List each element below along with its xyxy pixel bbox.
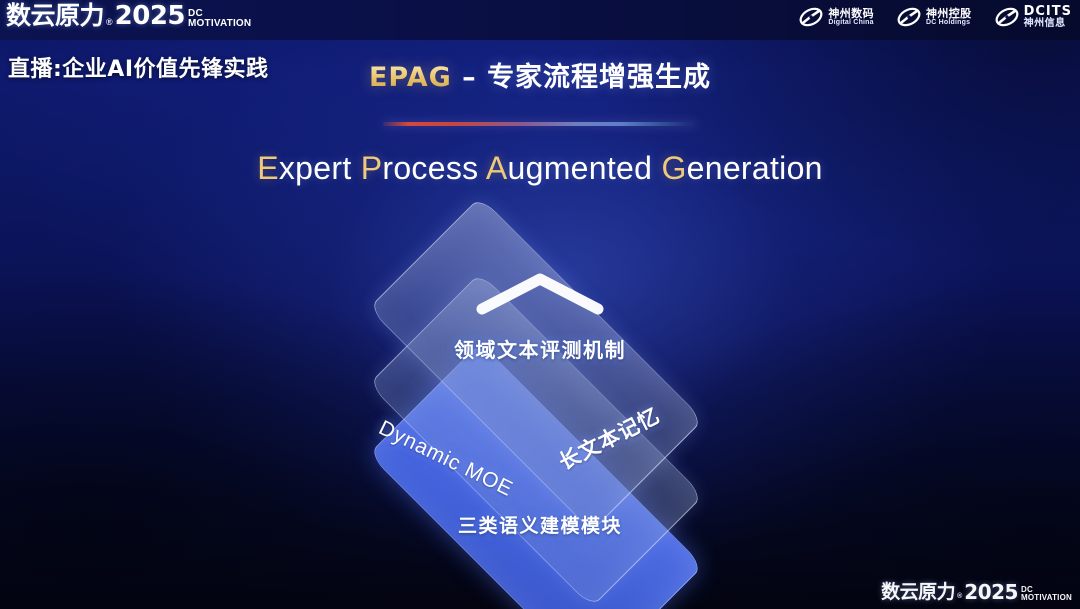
subhead-word-generation: eneration: [687, 150, 823, 186]
stack-layer-top: [378, 206, 694, 522]
subhead-word-process: rocess: [382, 150, 485, 186]
subhead-cap-a: A: [486, 150, 508, 186]
subhead-cap-g: G: [661, 150, 686, 186]
acronym-expansion: Expert Process Augmented Generation: [0, 150, 1080, 187]
headline-separator: –: [452, 62, 487, 93]
watermark-registered: ®: [957, 591, 962, 603]
swirl-icon: [798, 4, 824, 30]
watermark-motivation-label: MOTIVATION: [1021, 594, 1072, 602]
headline-chinese: 专家流程增强生成: [487, 62, 711, 93]
stack-label-top: 领域文本评测机制: [0, 334, 1080, 363]
logo-digital-china: 神州数码 Digital China: [798, 4, 874, 30]
logo-label-cn: 神州数码: [828, 8, 874, 20]
brand-motivation-label: MOTIVATION: [188, 19, 251, 29]
chevron-up-icon: [472, 271, 608, 315]
logo-label-cn: 神州控股: [926, 8, 972, 20]
brand-watermark-bottom-right: 数云原力 ® 2025 DC MOTIVATION: [881, 582, 1072, 603]
subhead-word-augmented: ugmented: [508, 150, 662, 186]
registered-mark: ®: [106, 14, 113, 30]
logo-text-group: 神州控股 DC Holdings: [926, 8, 972, 27]
swirl-icon: [896, 4, 922, 30]
logo-label-en: Digital China: [828, 19, 874, 26]
headline-acronym: EPAG: [369, 62, 452, 93]
logo-label-cn: 神州信息: [1024, 19, 1072, 30]
watermark-name-cn: 数云原力: [881, 582, 955, 603]
logo-dcits: DCITS 神州信息: [994, 4, 1072, 30]
logo-text-group: DCITS 神州信息: [1024, 5, 1072, 29]
partner-logo-group: 神州数码 Digital China 神州控股 DC Holdings: [798, 4, 1072, 30]
headline-divider: [383, 122, 697, 126]
stack-plate-top: [368, 196, 703, 531]
logo-label-en: DCITS: [1024, 5, 1072, 19]
subhead-cap-p: P: [361, 150, 383, 186]
live-stream-title: 直播:企业AI价值先锋实践: [8, 51, 269, 83]
subhead-word-expert: xpert: [279, 150, 361, 186]
logo-text-group: 神州数码 Digital China: [828, 8, 874, 27]
logo-dc-holdings: 神州控股 DC Holdings: [896, 4, 972, 30]
watermark-year: 2025: [964, 582, 1018, 603]
stack-label-bottom: 三类语义建模模块: [0, 511, 1080, 538]
brand-logo-top-left: 数云原力 ® 2025 DC MOTIVATION: [6, 2, 251, 30]
subhead-cap-e: E: [257, 150, 279, 186]
swirl-icon: [994, 4, 1020, 30]
brand-year: 2025: [115, 2, 185, 30]
slide-canvas: 数云原力 ® 2025 DC MOTIVATION 直播:企业AI价值先锋实践 …: [0, 0, 1080, 609]
logo-label-en: DC Holdings: [926, 19, 972, 26]
brand-dc-motivation: DC MOTIVATION: [188, 9, 251, 29]
watermark-dc-motivation: DC MOTIVATION: [1021, 586, 1072, 602]
brand-name-cn: 数云原力: [6, 2, 104, 30]
